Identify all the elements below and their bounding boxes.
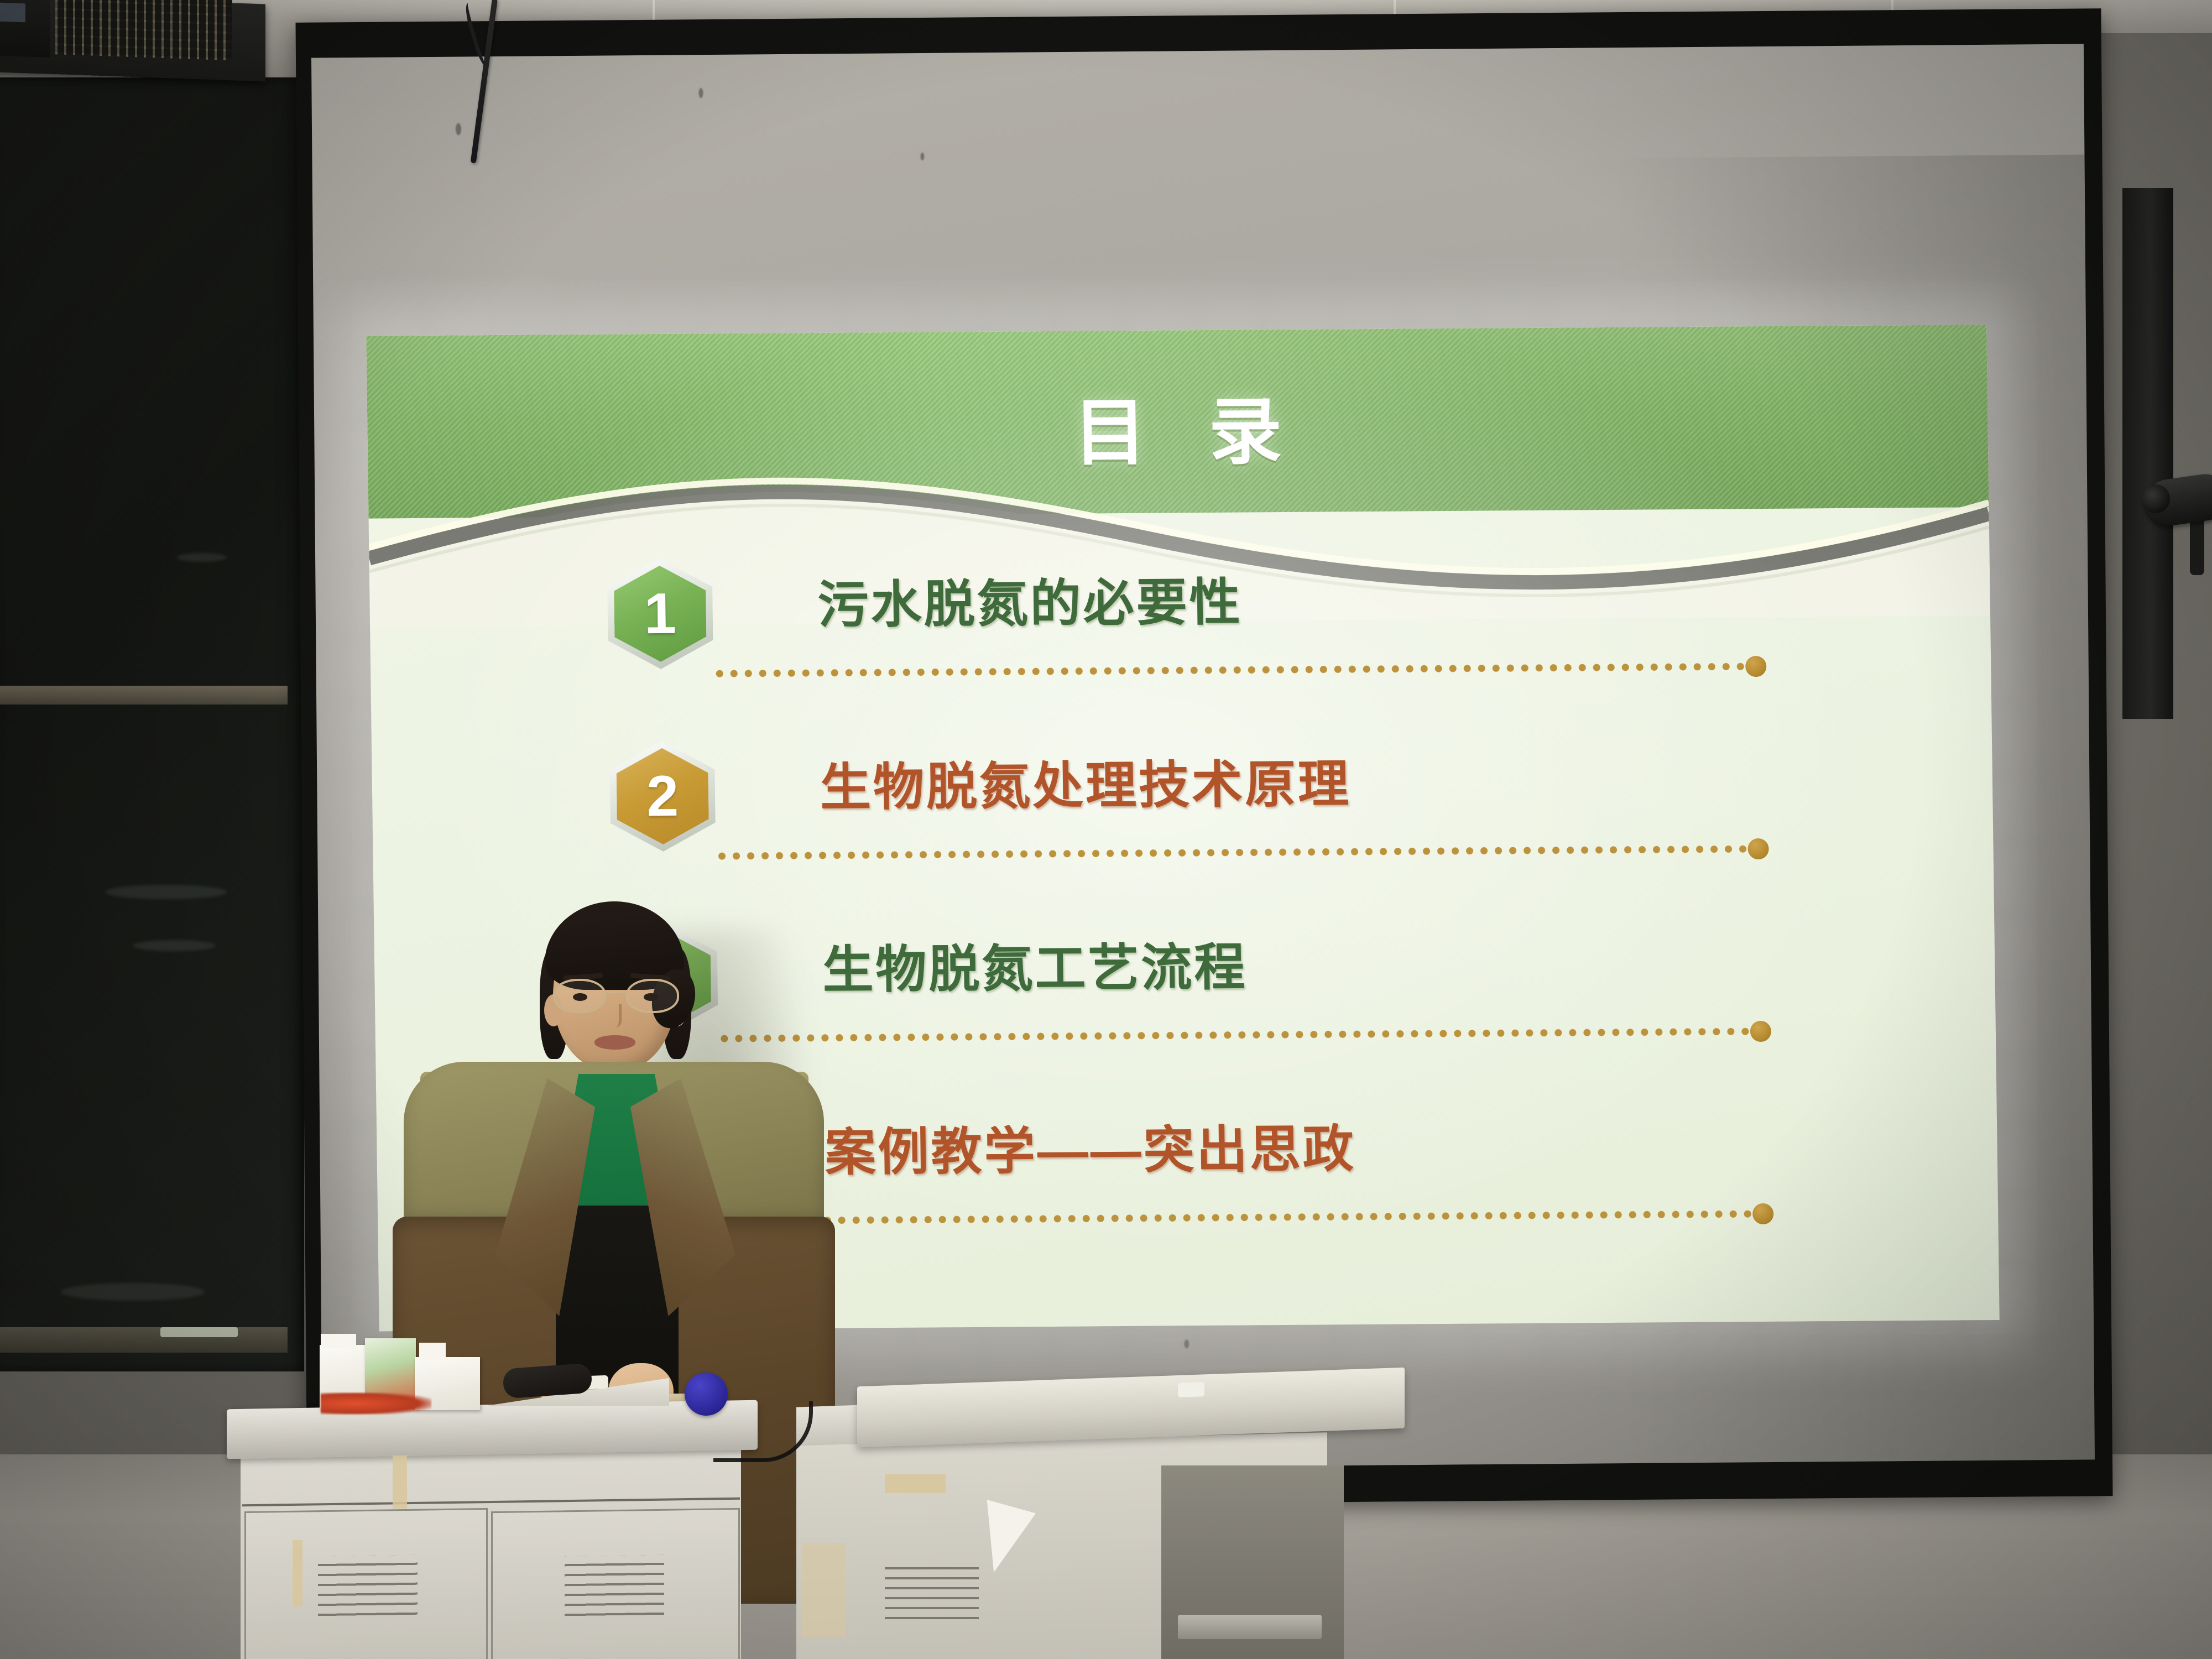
chalk-stick[interactable] bbox=[160, 1327, 238, 1337]
blackboard-rail-upper bbox=[0, 686, 288, 705]
toc-dotted-leader bbox=[719, 1210, 1759, 1225]
ac-indicator-light bbox=[0, 3, 25, 23]
side-cabinet-handle[interactable] bbox=[1178, 1615, 1322, 1639]
toc-leader-end-dot bbox=[1745, 656, 1766, 677]
toc-dotted-leader bbox=[712, 662, 1752, 677]
toc-item-label: 污水脱氮的必要性 bbox=[817, 561, 1243, 638]
blackboard-chalk-rail bbox=[0, 1327, 288, 1353]
side-cabinet-vent bbox=[885, 1559, 979, 1626]
toc-leader-end-dot bbox=[1752, 1203, 1773, 1224]
ac-grill bbox=[55, 0, 232, 60]
toc-leader-end-dot bbox=[1747, 838, 1768, 859]
misc-red-items bbox=[321, 1392, 431, 1415]
podium-vent bbox=[318, 1555, 418, 1618]
air-conditioner-unit bbox=[0, 0, 265, 81]
podium-door-right[interactable] bbox=[491, 1508, 740, 1659]
toc-item-label: 案例教学——突出思政 bbox=[825, 1108, 1357, 1185]
chalk-box-flap bbox=[321, 1334, 356, 1348]
podium-drawer[interactable] bbox=[242, 1449, 740, 1507]
chalk-stick[interactable] bbox=[1178, 1382, 1204, 1397]
blackboard bbox=[0, 77, 304, 1371]
podium-vent bbox=[565, 1555, 664, 1618]
toc-item-label: 生物脱氮处理技术原理 bbox=[820, 743, 1352, 820]
podium-door-left[interactable] bbox=[244, 1508, 488, 1659]
toc-leader-end-dot bbox=[1750, 1021, 1771, 1042]
camera-mount-post bbox=[2122, 188, 2173, 719]
classroom-scene: 目 录 目 录 1 bbox=[0, 0, 2212, 1659]
toc-item-label: 生物脱氮工艺流程 bbox=[822, 926, 1248, 1003]
toc-hex-badge: 2 bbox=[609, 740, 716, 852]
toc-row[interactable]: 2 生物脱氮处理技术原理 bbox=[371, 717, 1994, 911]
slide-title: 目 录 bbox=[367, 368, 1988, 484]
camera-arm bbox=[2190, 514, 2204, 575]
toc-dotted-leader bbox=[714, 845, 1754, 860]
chalk-box-flap bbox=[419, 1343, 446, 1360]
side-cabinet[interactable] bbox=[818, 1377, 1405, 1659]
toc-dotted-leader bbox=[717, 1027, 1757, 1042]
toc-row[interactable]: 1 污水脱氮的必要性 bbox=[369, 535, 1991, 728]
blackboard-eraser[interactable] bbox=[502, 1363, 592, 1399]
teaching-podium[interactable] bbox=[227, 1405, 758, 1659]
toc-hex-badge: 1 bbox=[607, 558, 714, 669]
ac-side-panel bbox=[0, 0, 50, 58]
